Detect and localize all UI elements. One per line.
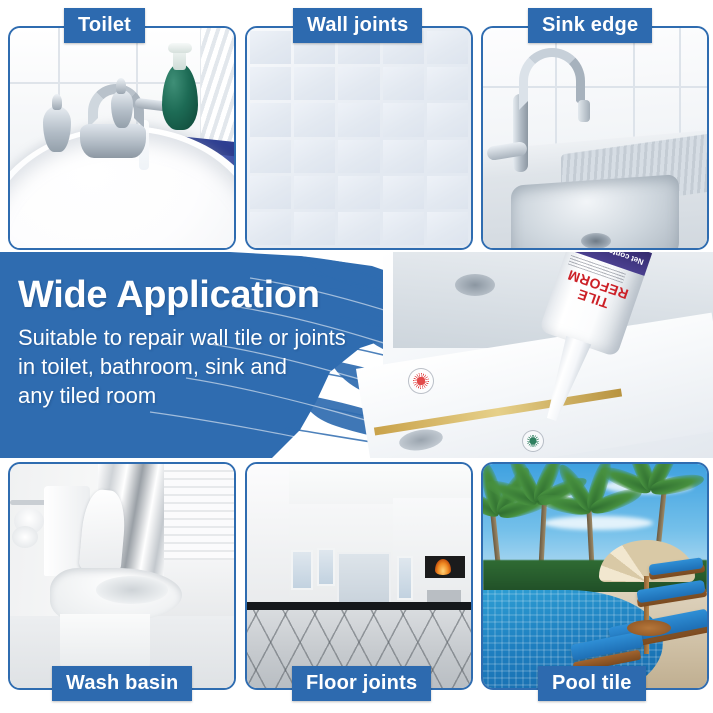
wall-tile	[250, 212, 291, 245]
label-sink-edge: Sink edge	[528, 8, 652, 43]
red-seal-icon	[408, 368, 434, 394]
wall-tile	[427, 176, 468, 209]
wall-tile	[250, 67, 291, 100]
pool-tile-photo	[483, 464, 707, 688]
wall-tile	[294, 212, 335, 245]
wall-tile	[294, 103, 335, 136]
wall-tile	[338, 103, 379, 136]
card-wall-joints[interactable]	[245, 26, 473, 250]
wall-tile	[250, 140, 291, 173]
green-seal-icon	[522, 430, 544, 452]
card-toilet[interactable]	[8, 26, 236, 250]
wall-tile	[427, 140, 468, 173]
wall-tile	[250, 176, 291, 209]
infographic-page: Toilet Wall joints Sink edge	[0, 0, 713, 713]
wall-tile	[250, 103, 291, 136]
toilet-photo	[10, 28, 234, 248]
wall-tile	[338, 67, 379, 100]
wall-tile	[383, 103, 424, 136]
wall-tile	[427, 67, 468, 100]
label-wash-basin: Wash basin	[52, 666, 192, 701]
wall-tile	[383, 140, 424, 173]
card-floor-joints[interactable]	[245, 462, 473, 690]
product-application-photo: Net content: 280ml TILE REFORM	[383, 252, 713, 458]
banner-title: Wide Application	[18, 276, 346, 314]
sink-edge-photo	[483, 28, 707, 248]
wall-tile	[250, 31, 291, 64]
wall-tile	[383, 212, 424, 245]
wall-tile	[338, 212, 379, 245]
wall-tile	[338, 176, 379, 209]
wall-tile	[338, 140, 379, 173]
wall-tile	[427, 212, 468, 245]
label-floor-joints: Floor joints	[292, 666, 431, 701]
wall-joints-photo	[247, 28, 471, 248]
wall-tile	[427, 31, 468, 64]
wall-tile	[383, 176, 424, 209]
wall-tile	[294, 176, 335, 209]
label-toilet: Toilet	[64, 8, 145, 43]
wall-tile	[427, 103, 468, 136]
label-wall-joints: Wall joints	[293, 8, 422, 43]
banner-subtitle: Suitable to repair wall tile or joints i…	[18, 323, 346, 410]
wall-tile	[383, 67, 424, 100]
card-pool-tile[interactable]	[481, 462, 709, 690]
wall-tile	[294, 140, 335, 173]
card-sink-edge[interactable]	[481, 26, 709, 250]
label-pool-tile: Pool tile	[538, 666, 646, 701]
wide-application-banner: Net content: 280ml TILE REFORM Wide Appl…	[0, 252, 713, 458]
floor-joints-photo	[247, 464, 471, 688]
wash-basin-photo	[10, 464, 234, 688]
card-wash-basin[interactable]	[8, 462, 236, 690]
wall-tile	[294, 67, 335, 100]
